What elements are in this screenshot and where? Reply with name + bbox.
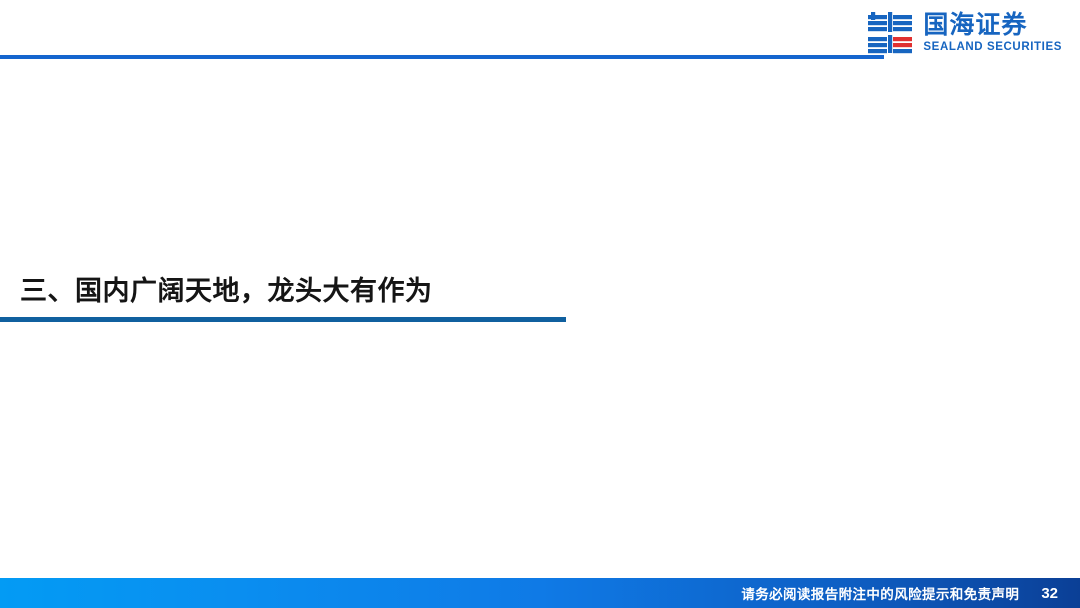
section-title-underline <box>0 317 566 322</box>
brand-name-en: SEALAND SECURITIES <box>923 42 1062 54</box>
sealand-weave-logo-icon <box>867 10 915 56</box>
header-divider <box>0 55 884 59</box>
brand-logo: 国海证券 SEALAND SECURITIES <box>867 10 1062 56</box>
brand-wordmark: 国海证券 SEALAND SECURITIES <box>923 12 1062 54</box>
footer-bar: 请务必阅读报告附注中的风险提示和免责声明 32 <box>0 578 1080 608</box>
slide: 国海证券 SEALAND SECURITIES 三、国内广阔天地，龙头大有作为 … <box>0 0 1080 608</box>
section-heading-block: 三、国内广阔天地，龙头大有作为 <box>0 272 566 322</box>
page-title: 三、国内广阔天地，龙头大有作为 <box>0 272 566 311</box>
brand-name-cn: 国海证券 <box>923 12 1027 37</box>
footer-disclaimer: 请务必阅读报告附注中的风险提示和免责声明 <box>741 583 1019 603</box>
page-number: 32 <box>1041 585 1058 602</box>
